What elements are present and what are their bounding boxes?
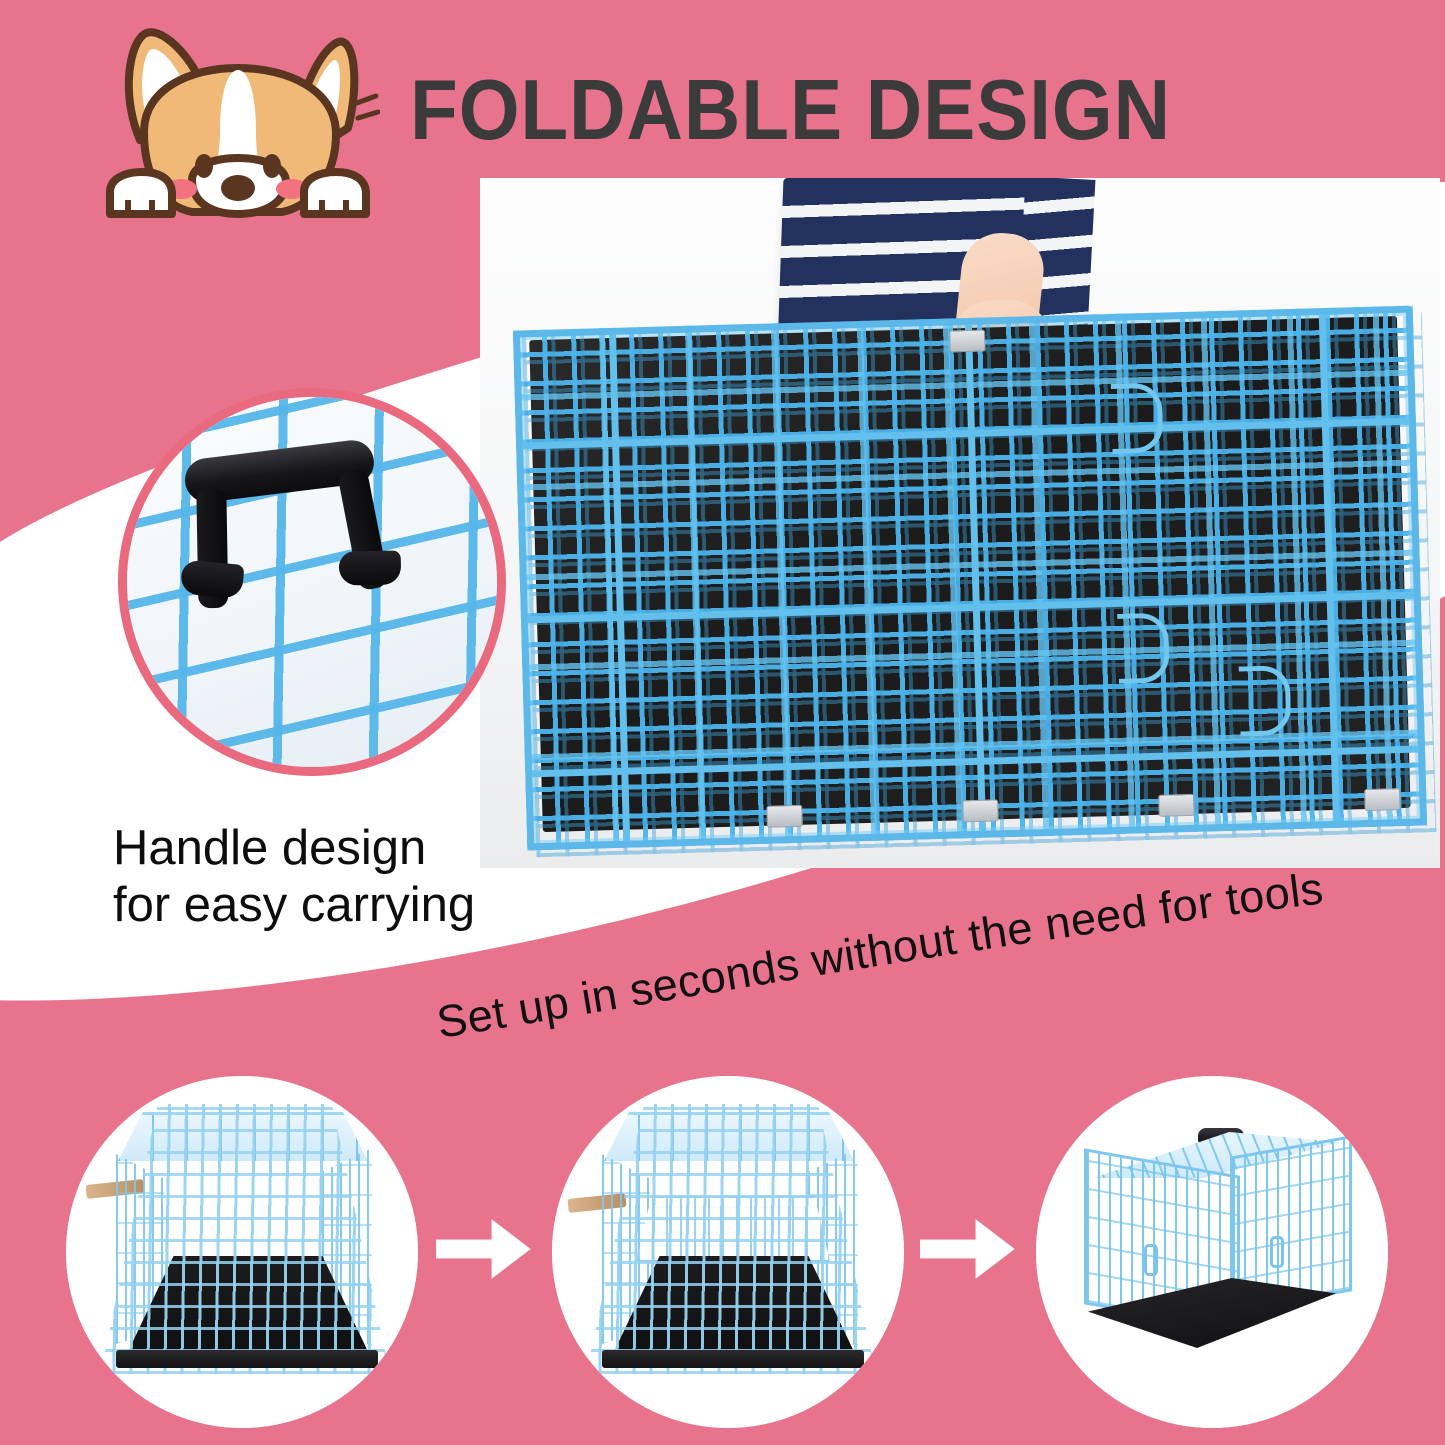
crate-latch (766, 805, 803, 828)
crate-door-latch-wire (1117, 612, 1170, 683)
hero-photo-person-carrying-crate (480, 178, 1440, 868)
open-crate-2 (586, 1104, 876, 1374)
step-circle-2 (552, 1076, 904, 1428)
carry-handle-clip-right (339, 550, 402, 585)
handle-detail-circle (118, 388, 506, 776)
step-1-photo (66, 1076, 418, 1428)
arrow-step2-to-step3 (920, 1212, 1016, 1286)
handle-caption-line-1: Handle design (113, 820, 543, 877)
crate-door-latch (1270, 1236, 1284, 1268)
step-circle-1 (66, 1076, 418, 1428)
crate-base-tray (602, 1350, 864, 1368)
corgi-dog-logo (96, 24, 380, 222)
crate-door-latch-wire (1111, 383, 1164, 454)
carry-handle (183, 438, 386, 578)
crate-base-tray (116, 1350, 378, 1368)
crate-latch (962, 799, 999, 822)
open-crate-1 (100, 1104, 390, 1374)
crate-latch (1364, 788, 1401, 811)
assembled-crate (1078, 1128, 1350, 1358)
setup-tagline: Set up in seconds without the need for t… (430, 880, 1445, 1080)
crate-door-latch (1144, 1244, 1158, 1276)
product-infographic-poster: FOLDABLE DESIGN (0, 0, 1445, 1445)
step-2-photo (552, 1076, 904, 1428)
folded-crate-panel (513, 306, 1427, 851)
setup-tagline-text: Set up in seconds without the need for t… (433, 862, 1326, 1048)
crate-latch (949, 329, 986, 352)
arrow-step1-to-step2 (436, 1212, 532, 1286)
step-3-photo (1036, 1076, 1388, 1428)
step-circle-3 (1036, 1076, 1388, 1428)
crate-door-latch-wire (1239, 665, 1292, 736)
crate-latch (1158, 794, 1195, 817)
